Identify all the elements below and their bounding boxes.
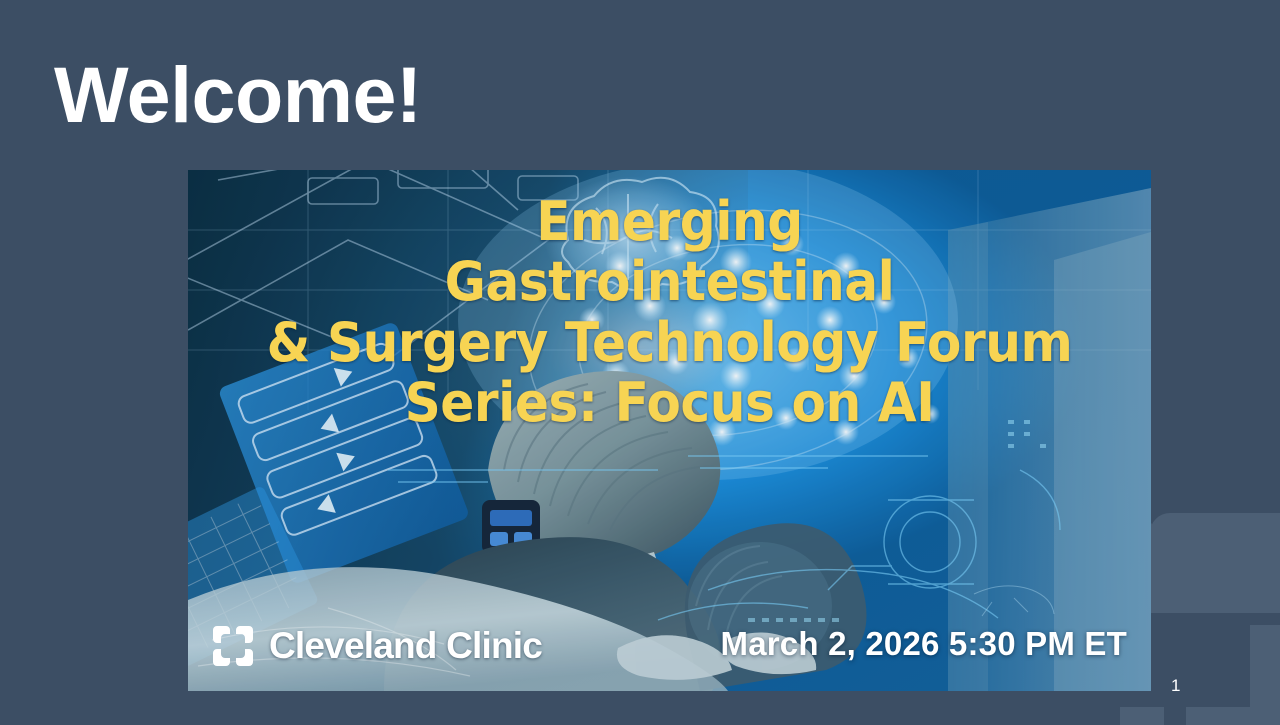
cleveland-clinic-logo: Cleveland Clinic xyxy=(210,623,542,669)
page-title: Welcome! xyxy=(54,52,422,137)
cleveland-clinic-wordmark: Cleveland Clinic xyxy=(269,625,542,667)
slide-number: 1 xyxy=(1171,676,1180,696)
hero-image: Emerging Gastrointestinal & Surgery Tech… xyxy=(188,170,1151,691)
presentation-slide: Welcome! xyxy=(0,0,1280,725)
cleveland-clinic-mark-icon xyxy=(210,623,256,669)
operating-room-photo xyxy=(188,170,1151,691)
event-date-time: March 2, 2026 5:30 PM ET xyxy=(721,625,1128,663)
